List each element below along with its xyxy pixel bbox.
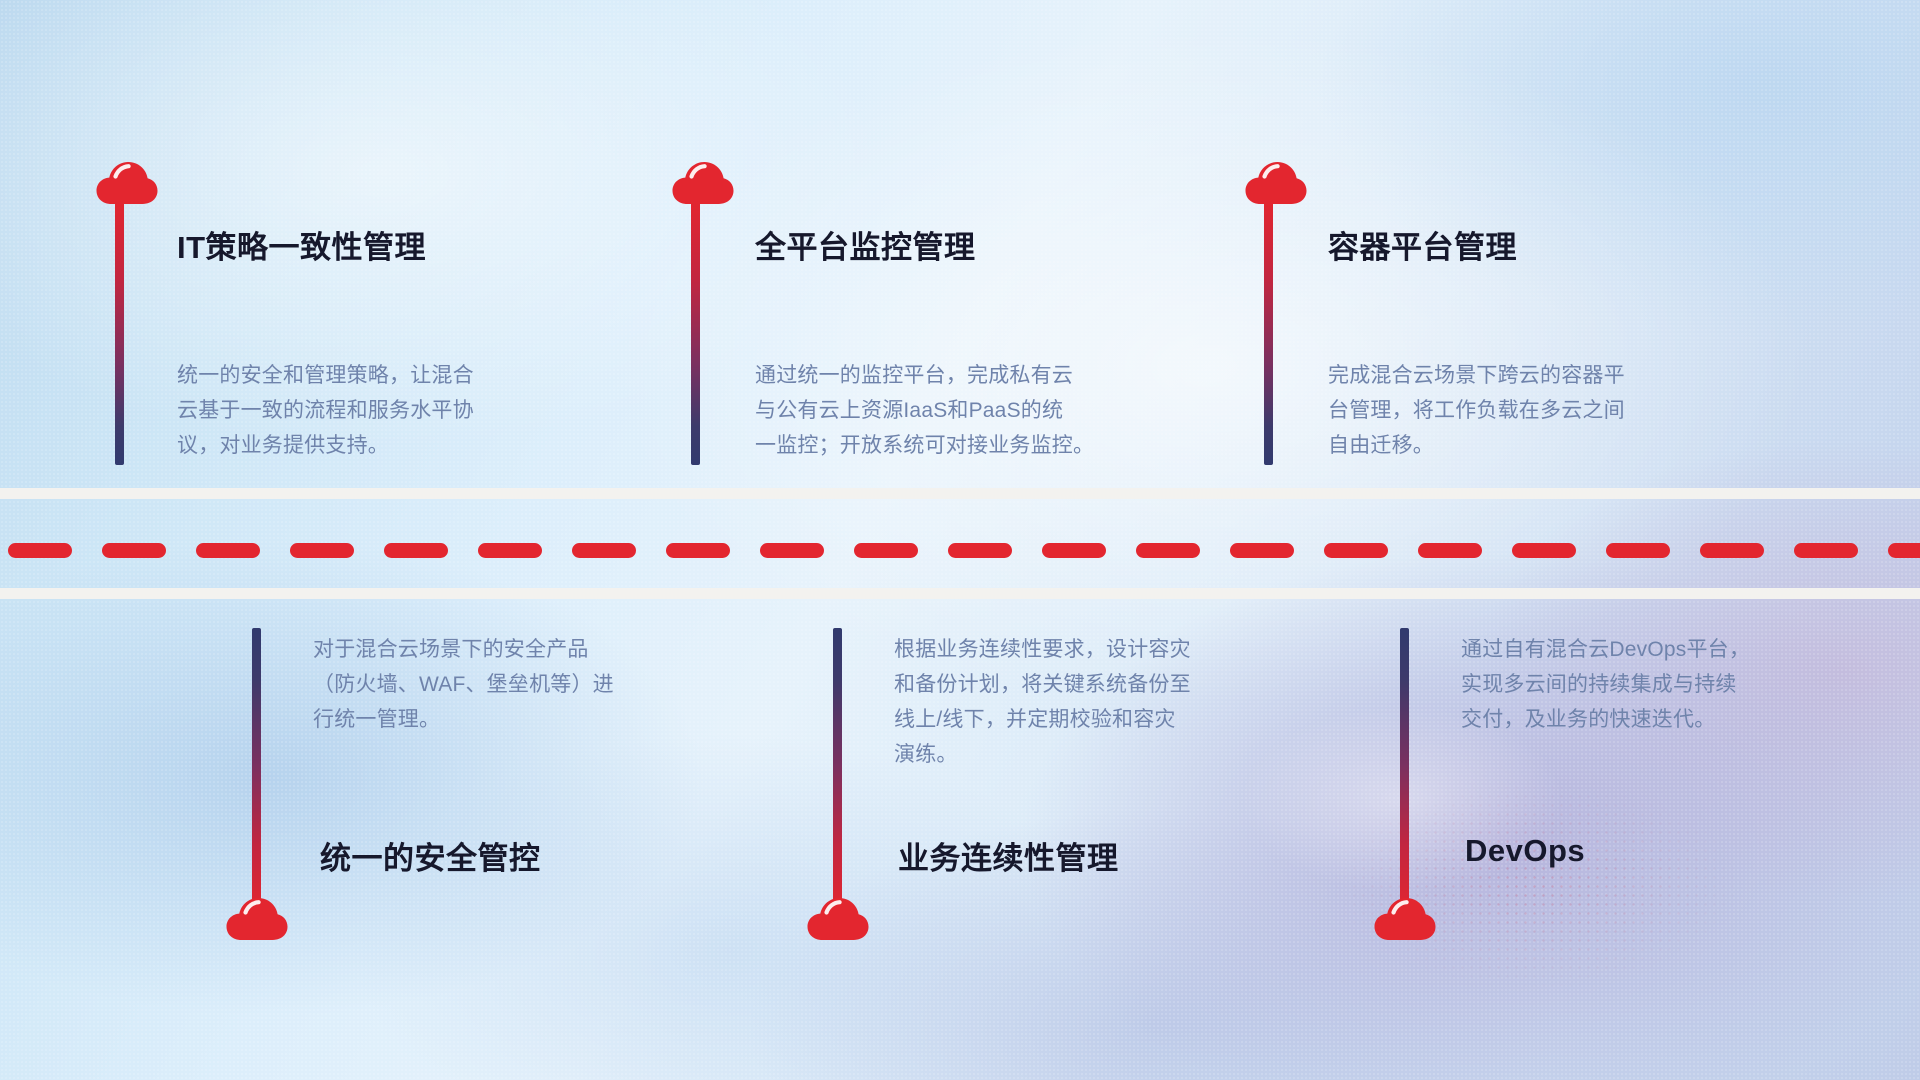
dash-segment bbox=[384, 543, 448, 558]
dash-segment bbox=[1418, 543, 1482, 558]
dash-segment bbox=[478, 543, 542, 558]
dash-segment bbox=[1888, 543, 1920, 558]
dash-segment bbox=[8, 543, 72, 558]
dash-segment bbox=[1606, 543, 1670, 558]
dash-segment bbox=[572, 543, 636, 558]
top-item-2-title: 全平台监控管理 bbox=[755, 222, 976, 267]
dash-segment bbox=[854, 543, 918, 558]
bottom-item-3-title: DevOps bbox=[1465, 833, 1585, 869]
dash-segment bbox=[1700, 543, 1764, 558]
dash-segment bbox=[666, 543, 730, 558]
top-item-3-body: 完成混合云场景下跨云的容器平 台管理，将工作负载在多云之间 自由迁移。 bbox=[1328, 358, 1768, 463]
connector-line bbox=[1400, 628, 1409, 913]
divider-band-top bbox=[0, 488, 1920, 499]
dash-segment bbox=[1136, 543, 1200, 558]
cloud-icon bbox=[1374, 896, 1436, 942]
divider-band-bottom bbox=[0, 588, 1920, 599]
dash-segment bbox=[1042, 543, 1106, 558]
dash-segment bbox=[1230, 543, 1294, 558]
top-item-1-title: IT策略一致性管理 bbox=[177, 222, 426, 267]
dash-segment bbox=[1794, 543, 1858, 558]
bottom-item-2-body: 根据业务连续性要求，设计容灾 和备份计划，将关键系统备份至 线上/线下，并定期校… bbox=[894, 632, 1334, 772]
bottom-item-1-body: 对于混合云场景下的安全产品 （防火墙、WAF、堡垒机等）进 行统一管理。 bbox=[313, 632, 753, 737]
infographic-canvas: IT策略一致性管理 统一的安全和管理策略，让混合 云基于一致的流程和服务水平协 … bbox=[0, 0, 1920, 1080]
dash-segment bbox=[102, 543, 166, 558]
cloud-icon bbox=[96, 160, 158, 206]
cloud-icon bbox=[672, 160, 734, 206]
dash-segment bbox=[948, 543, 1012, 558]
dash-segment bbox=[1512, 543, 1576, 558]
top-item-3-title: 容器平台管理 bbox=[1328, 222, 1517, 267]
dash-segment bbox=[196, 543, 260, 558]
connector-line bbox=[833, 628, 842, 913]
dashed-divider bbox=[0, 543, 1920, 558]
top-item-2-body: 通过统一的监控平台，完成私有云 与公有云上资源IaaS和PaaS的统 一监控；开… bbox=[755, 358, 1215, 463]
bottom-item-2-title: 业务连续性管理 bbox=[898, 833, 1119, 878]
cloud-icon bbox=[226, 896, 288, 942]
cloud-icon bbox=[1245, 160, 1307, 206]
dash-segment bbox=[1324, 543, 1388, 558]
bottom-item-3-body: 通过自有混合云DevOps平台， 实现多云间的持续集成与持续 交付，及业务的快速… bbox=[1461, 632, 1901, 737]
bottom-item-1-title: 统一的安全管控 bbox=[320, 833, 541, 878]
dash-segment bbox=[760, 543, 824, 558]
connector-line bbox=[252, 628, 261, 913]
connector-line bbox=[115, 200, 124, 465]
connector-line bbox=[691, 200, 700, 465]
background-red-speckles bbox=[0, 0, 1920, 1080]
top-item-1-body: 统一的安全和管理策略，让混合 云基于一致的流程和服务水平协 议，对业务提供支持。 bbox=[177, 358, 617, 463]
dash-segment bbox=[290, 543, 354, 558]
cloud-icon bbox=[807, 896, 869, 942]
connector-line bbox=[1264, 200, 1273, 465]
